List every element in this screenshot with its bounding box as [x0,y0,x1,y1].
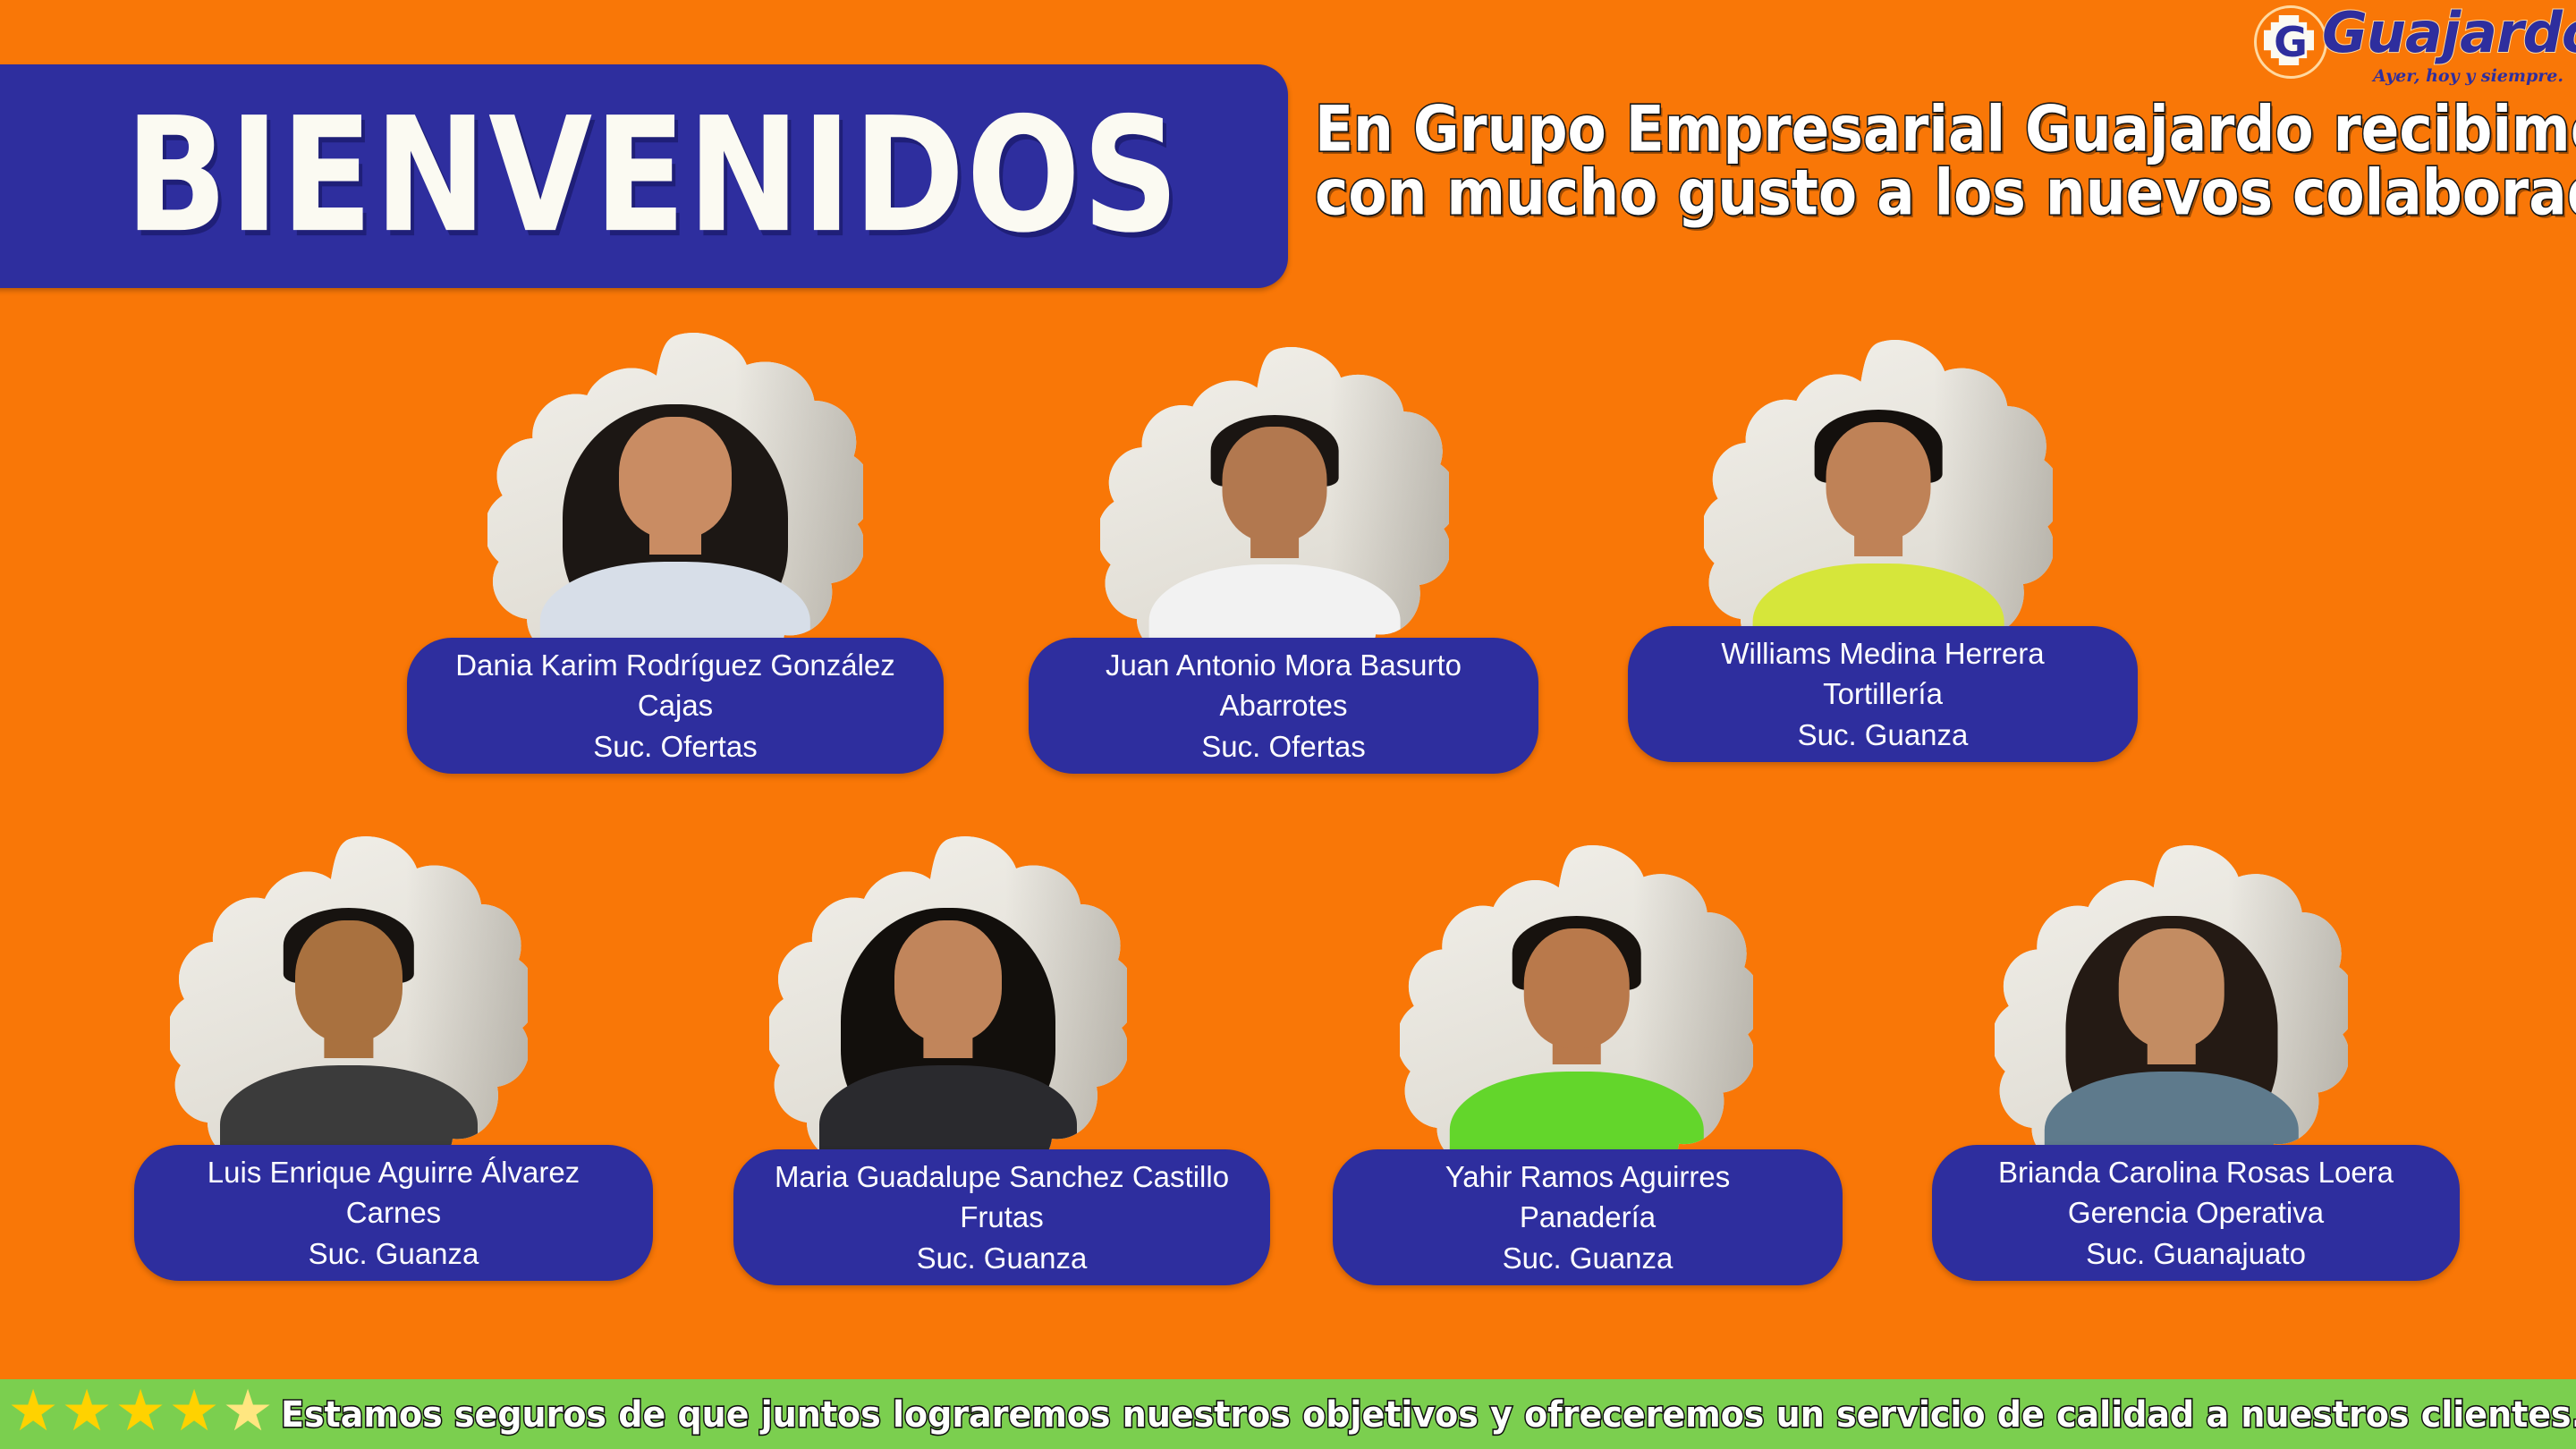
person-area: Carnes [346,1192,441,1233]
logo-badge-icon: G [2254,5,2327,79]
logo-wordmark: Guajardo [2322,5,2576,61]
person-branch: Suc. Guanza [917,1238,1088,1279]
logo-tagline: Ayer, hoy y siempre. [2373,66,2563,86]
person-branch: Suc. Guanza [309,1233,479,1275]
headline-line-1: En Grupo Empresarial Guajardo recibimos [1315,95,2567,165]
footer-message: Estamos seguros de que juntos lograremos… [281,1394,2576,1436]
person-area: Frutas [960,1197,1044,1238]
photo-content [1400,845,1753,1199]
person-name: Maria Guadalupe Sanchez Castillo [775,1157,1229,1198]
star-full-icon: ★ [7,1388,59,1440]
person-face [2118,928,2224,1048]
person-face [295,920,402,1042]
photo-content [769,836,1127,1194]
person-namecard: Luis Enrique Aguirre ÁlvarezCarnesSuc. G… [134,1145,653,1281]
footer-bar: ★★★★★ Estamos seguros de que juntos logr… [0,1379,2576,1449]
person-area: Tortillería [1823,674,1943,715]
person-area: Cajas [638,685,713,726]
person-name: Juan Antonio Mora Basurto [1106,645,1462,686]
person-photo [1400,845,1753,1199]
person-name: Brianda Carolina Rosas Loera [1998,1152,2394,1193]
person-namecard: Juan Antonio Mora BasurtoAbarrotesSuc. O… [1029,638,1538,774]
person-branch: Suc. Guanza [1798,715,1969,756]
star-half-icon: ★ [222,1388,274,1440]
person-name: Yahir Ramos Aguirres [1445,1157,1731,1198]
person-face [1223,427,1327,542]
logo-badge-letter: G [2274,21,2308,63]
person-namecard: Dania Karim Rodríguez GonzálezCajasSuc. … [407,638,944,774]
rating-stars-left: ★★★★★ [0,1388,281,1440]
person-face [1826,422,1931,541]
person-face [619,417,732,538]
person-namecard: Yahir Ramos AguirresPanaderíaSuc. Guanza [1333,1149,1843,1285]
star-full-icon: ★ [114,1388,166,1440]
person-face [1523,928,1630,1048]
photo-content [487,333,863,691]
person-photo [487,333,863,691]
person-name: Dania Karim Rodríguez González [455,645,895,686]
person-namecard: Williams Medina HerreraTortilleríaSuc. G… [1628,626,2138,762]
person-area: Abarrotes [1219,685,1347,726]
photo-content [170,836,528,1194]
headline-line-2: con mucho gusto a los nuevos colaborador… [1315,157,2567,228]
person-photo [769,836,1127,1194]
person-namecard: Maria Guadalupe Sanchez CastilloFrutasSu… [733,1149,1270,1285]
person-area: Panadería [1520,1197,1656,1238]
person-area: Gerencia Operativa [2068,1192,2324,1233]
person-branch: Suc. Guanajuato [2086,1233,2306,1275]
person-name: Luis Enrique Aguirre Álvarez [208,1152,580,1193]
person-photo [170,836,528,1194]
headline: En Grupo Empresarial Guajardo recibimos … [1315,98,2567,225]
person-branch: Suc. Ofertas [593,726,757,767]
person-branch: Suc. Guanza [1503,1238,1674,1279]
person-branch: Suc. Ofertas [1201,726,1365,767]
person-name: Williams Medina Herrera [1721,633,2044,674]
photo-content [1100,347,1449,687]
star-full-icon: ★ [168,1388,220,1440]
person-photo [1100,347,1449,687]
page-title: BIENVENIDOS [72,97,1181,256]
company-logo: G Guajardo Ayer, hoy y siempre. [2245,0,2567,94]
person-face [894,920,1002,1042]
star-full-icon: ★ [61,1388,113,1440]
person-namecard: Brianda Carolina Rosas LoeraGerencia Ope… [1932,1145,2460,1281]
welcome-banner: BIENVENIDOS [0,64,1288,288]
